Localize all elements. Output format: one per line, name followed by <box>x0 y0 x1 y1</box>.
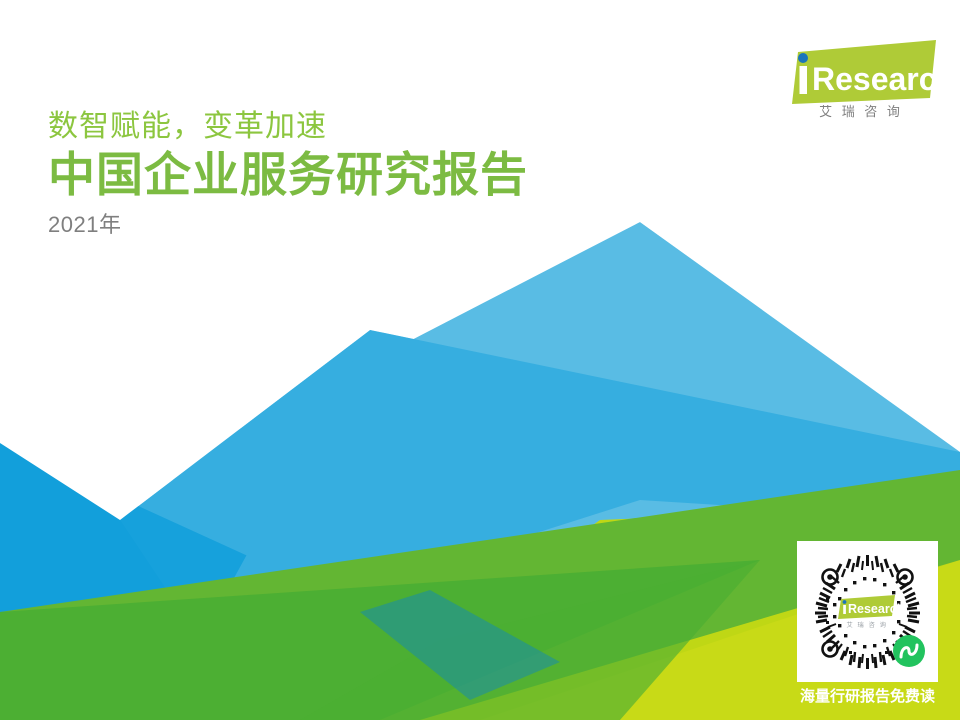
report-cover-slide: Research 艾 瑞 咨 询 数智赋能，变革加速 中国企业服务研究报告 20… <box>0 0 960 720</box>
headline-block: 数智赋能，变革加速 中国企业服务研究报告 2021年 <box>48 110 728 238</box>
qr-panel[interactable]: Research 艾 瑞 咨 询 海量行研报告免费读 <box>797 541 938 711</box>
logo-i-stem <box>800 66 808 94</box>
iresearch-logo-svg: Research 艾 瑞 咨 询 <box>786 28 936 120</box>
iresearch-logo: Research 艾 瑞 咨 询 <box>786 28 936 120</box>
qr-caption: 海量行研报告免费读 <box>797 685 938 706</box>
report-kicker: 数智赋能，变革加速 <box>48 110 728 145</box>
wechat-miniprogram-badge-icon[interactable] <box>893 635 925 667</box>
report-year: 2021年 <box>48 212 728 238</box>
qr-center-logo-i-dot-icon <box>843 600 847 604</box>
logo-wordmark-research: Research <box>812 61 936 97</box>
report-title: 中国企业服务研究报告 <box>48 147 728 202</box>
logo-i-dot-icon <box>798 53 808 63</box>
qr-center-logo-i-stem <box>843 605 846 614</box>
logo-chinese-name: 艾 瑞 咨 询 <box>819 104 903 119</box>
qr-center-logo-subtext: 艾 瑞 咨 询 <box>846 621 887 629</box>
qr-code-card[interactable]: Research 艾 瑞 咨 询 <box>797 541 938 682</box>
wechat-miniprogram-qr-icon[interactable]: Research 艾 瑞 咨 询 <box>797 541 938 682</box>
qr-center-logo-wordmark: Research <box>848 602 904 616</box>
